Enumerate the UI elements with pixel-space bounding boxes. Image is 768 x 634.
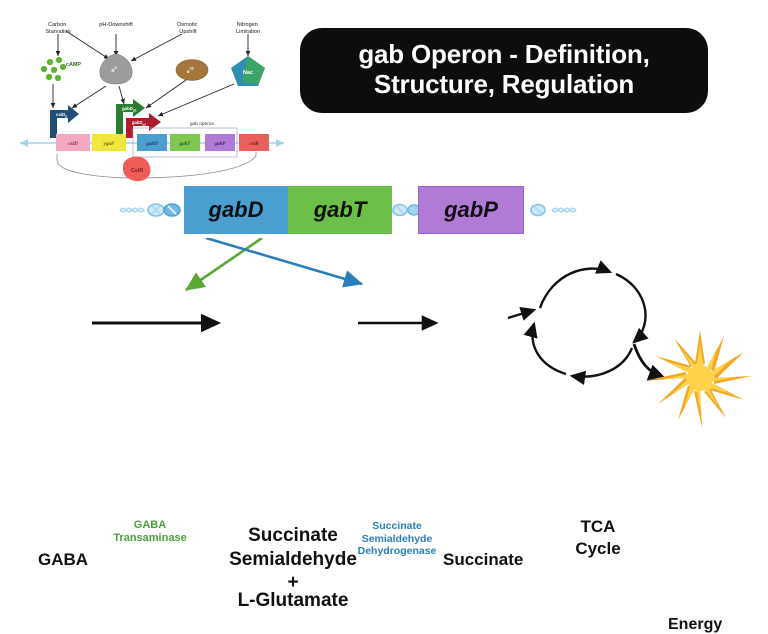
arrow-osmotic-to-sigmaS: [131, 34, 182, 61]
stimulus-label-nitrogen-limitation: Nitrogen Limitation: [236, 22, 260, 35]
promoter-arrow-csiDp: csiDp: [50, 105, 79, 138]
operon-gene-ygaF-label: ygaF: [103, 141, 115, 147]
operon-gene-csiR-label: csiR: [249, 141, 259, 147]
gene-box-row: gabD gabT gabP: [118, 186, 598, 238]
csiR-feedback-loop: [57, 152, 256, 178]
csiR-repressor-label: CsiR: [131, 168, 143, 174]
tca-cycle-circle: [532, 269, 645, 377]
pathway-label-tca-cycle: TCA Cycle: [566, 516, 630, 560]
title-banner: gab Operon - Definition, Structure, Regu…: [300, 28, 708, 113]
pathway-label-energy: Energy: [668, 616, 722, 634]
camp-label: cAMP: [66, 62, 81, 68]
operon-gene-csiD-label: csiD: [68, 141, 78, 147]
gene-box-gabP-label: gabP: [444, 197, 498, 223]
stimulus-label-osmotic-upshift: Osmotic Upshift: [177, 22, 199, 35]
tca-line-2: Cycle: [575, 539, 620, 558]
transaminase-line-2: Transaminase: [113, 532, 186, 544]
enzyme-label-ssa-dehydrogenase: Succinate Semialdehyde Dehydrogenase: [336, 520, 458, 558]
gene-box-gabT[interactable]: gabT: [288, 186, 392, 234]
stimulus-label-carbon-starvation: Carbon Starvation: [45, 22, 70, 35]
title-line-2: Structure, Regulation: [318, 70, 690, 100]
dna-backbone-left-cap: [20, 139, 28, 147]
ssa-line-1: Succinate: [248, 525, 338, 546]
arrow-gabT-to-transaminase: [186, 238, 262, 290]
gene-box-gabD[interactable]: gabD: [184, 186, 288, 234]
pathway-svg: [0, 238, 768, 432]
arrow-tca-to-energy: [634, 344, 664, 378]
metabolic-pathway: GABA Succinate Semialdehyde + L-Glutamat…: [0, 238, 768, 432]
operon-gene-gabT-label: gabT: [179, 141, 192, 147]
gene-box-gabP[interactable]: gabP: [418, 186, 524, 234]
camp-molecules: [41, 57, 66, 81]
arrow-sigmaS-to-gabDp1: [119, 86, 124, 104]
nac-label: Nac: [243, 70, 253, 76]
gene-box-gabD-label: gabD: [209, 197, 264, 223]
energy-starburst-icon: [648, 330, 752, 428]
tca-line-1: TCA: [581, 517, 616, 536]
pathway-label-gaba: GABA: [38, 550, 88, 570]
transaminase-line-1: GABA: [134, 519, 166, 531]
dna-helix-icon-right: [393, 205, 420, 216]
dna-helix-icon-far-right: [531, 205, 576, 216]
dehydrogenase-line-1: Succinate Semialdehyde: [362, 520, 433, 545]
stimulus-label-ph-downshift: pH-Downshift: [99, 22, 133, 28]
diagram-canvas: Carbon Starvation pH-Downshift Osmotic U…: [0, 0, 768, 432]
operon-gene-gabP-label: gabP: [214, 141, 227, 147]
arrow-sigma70-to-gabDp2: [146, 80, 186, 108]
arrow-succinate-to-tca: [508, 310, 534, 318]
operon-gene-gabD-label: gabD: [145, 141, 158, 147]
dna-backbone-right-cap: [276, 139, 284, 147]
dehydrogenase-line-2: Dehydrogenase: [358, 545, 437, 557]
gab-operon-regulation-figure: Carbon Starvation pH-Downshift Osmotic U…: [6, 4, 296, 182]
enzyme-label-gaba-transaminase: GABA Transaminase: [108, 519, 192, 545]
title-line-1: gab Operon - Definition,: [318, 40, 690, 70]
gene-box-gabT-label: gabT: [314, 197, 367, 223]
arrow-nac-to-gabDp2: [158, 84, 234, 116]
regulation-svg: Carbon Starvation pH-Downshift Osmotic U…: [6, 4, 296, 182]
gab-operon-label: gab operon: [190, 121, 215, 127]
arrow-carbon-to-sigmaS: [66, 31, 109, 59]
pathway-label-l-glutamate: L-Glutamate: [215, 590, 371, 612]
dna-helix-icon-left: [120, 204, 180, 216]
arrow-sigmaS-to-csiDp: [72, 86, 106, 108]
